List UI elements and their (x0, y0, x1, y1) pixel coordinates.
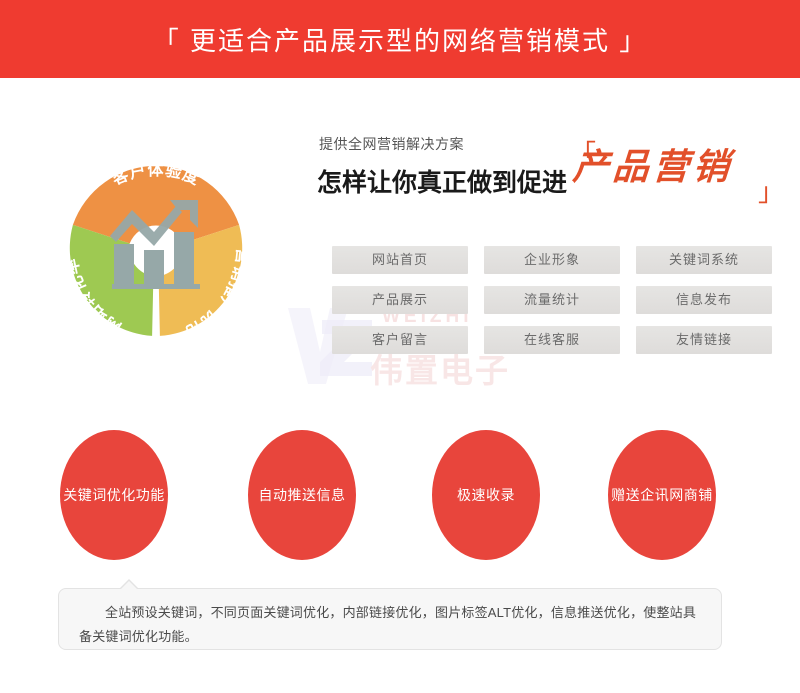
headline-main: 怎样让你真正做到促进 (317, 163, 567, 199)
banner-title: 「 更适合产品展示型的网络营销模式 」 (153, 21, 647, 58)
donut-chart: 客户体验度 营销推广优化 网站转化率 (58, 150, 254, 346)
tag-item[interactable]: 关键词系统 (636, 246, 772, 274)
feature-circle[interactable]: 自动推送信息 (248, 430, 356, 560)
callout-text: 全站预设关键词，不同页面关键词优化，内部链接优化，图片标签ALT优化，信息推送优… (79, 601, 701, 649)
feature-circle[interactable]: 赠送企讯网商铺 (608, 430, 716, 560)
callout-box: 全站预设关键词，不同页面关键词优化，内部链接优化，图片标签ALT优化，信息推送优… (58, 588, 722, 650)
growth-bar-chart-icon (110, 198, 202, 294)
tag-item[interactable]: 友情链接 (636, 326, 772, 354)
tag-item[interactable]: 信息发布 (636, 286, 772, 314)
tag-item[interactable]: 在线客服 (484, 326, 620, 354)
tag-item[interactable]: 产品展示 (332, 286, 468, 314)
header-banner: 「 更适合产品展示型的网络营销模式 」 (0, 0, 800, 78)
feature-circle[interactable]: 极速收录 (432, 430, 540, 560)
tag-item[interactable]: 流量统计 (484, 286, 620, 314)
headline-accent: 产品营销 (571, 138, 735, 190)
tag-item[interactable]: 企业形象 (484, 246, 620, 274)
accent-bracket-close: 」 (758, 172, 784, 209)
feature-circle[interactable]: 关键词优化功能 (60, 430, 168, 560)
tag-item[interactable]: 网站首页 (332, 246, 468, 274)
promo-page: 「 更适合产品展示型的网络营销模式 」 客户体验度 营销推广优化 (0, 0, 800, 693)
headline-subtitle: 提供全网营销解决方案 (319, 134, 464, 154)
feature-circle-group: 关键词优化功能 自动推送信息 极速收录 赠送企讯网商铺 (0, 430, 800, 570)
tag-item[interactable]: 客户留言 (332, 326, 468, 354)
callout-tail-icon (119, 579, 139, 589)
feature-tag-grid: 网站首页 企业形象 关键词系统 产品展示 流量统计 信息发布 客户留言 在线客服… (332, 246, 772, 354)
